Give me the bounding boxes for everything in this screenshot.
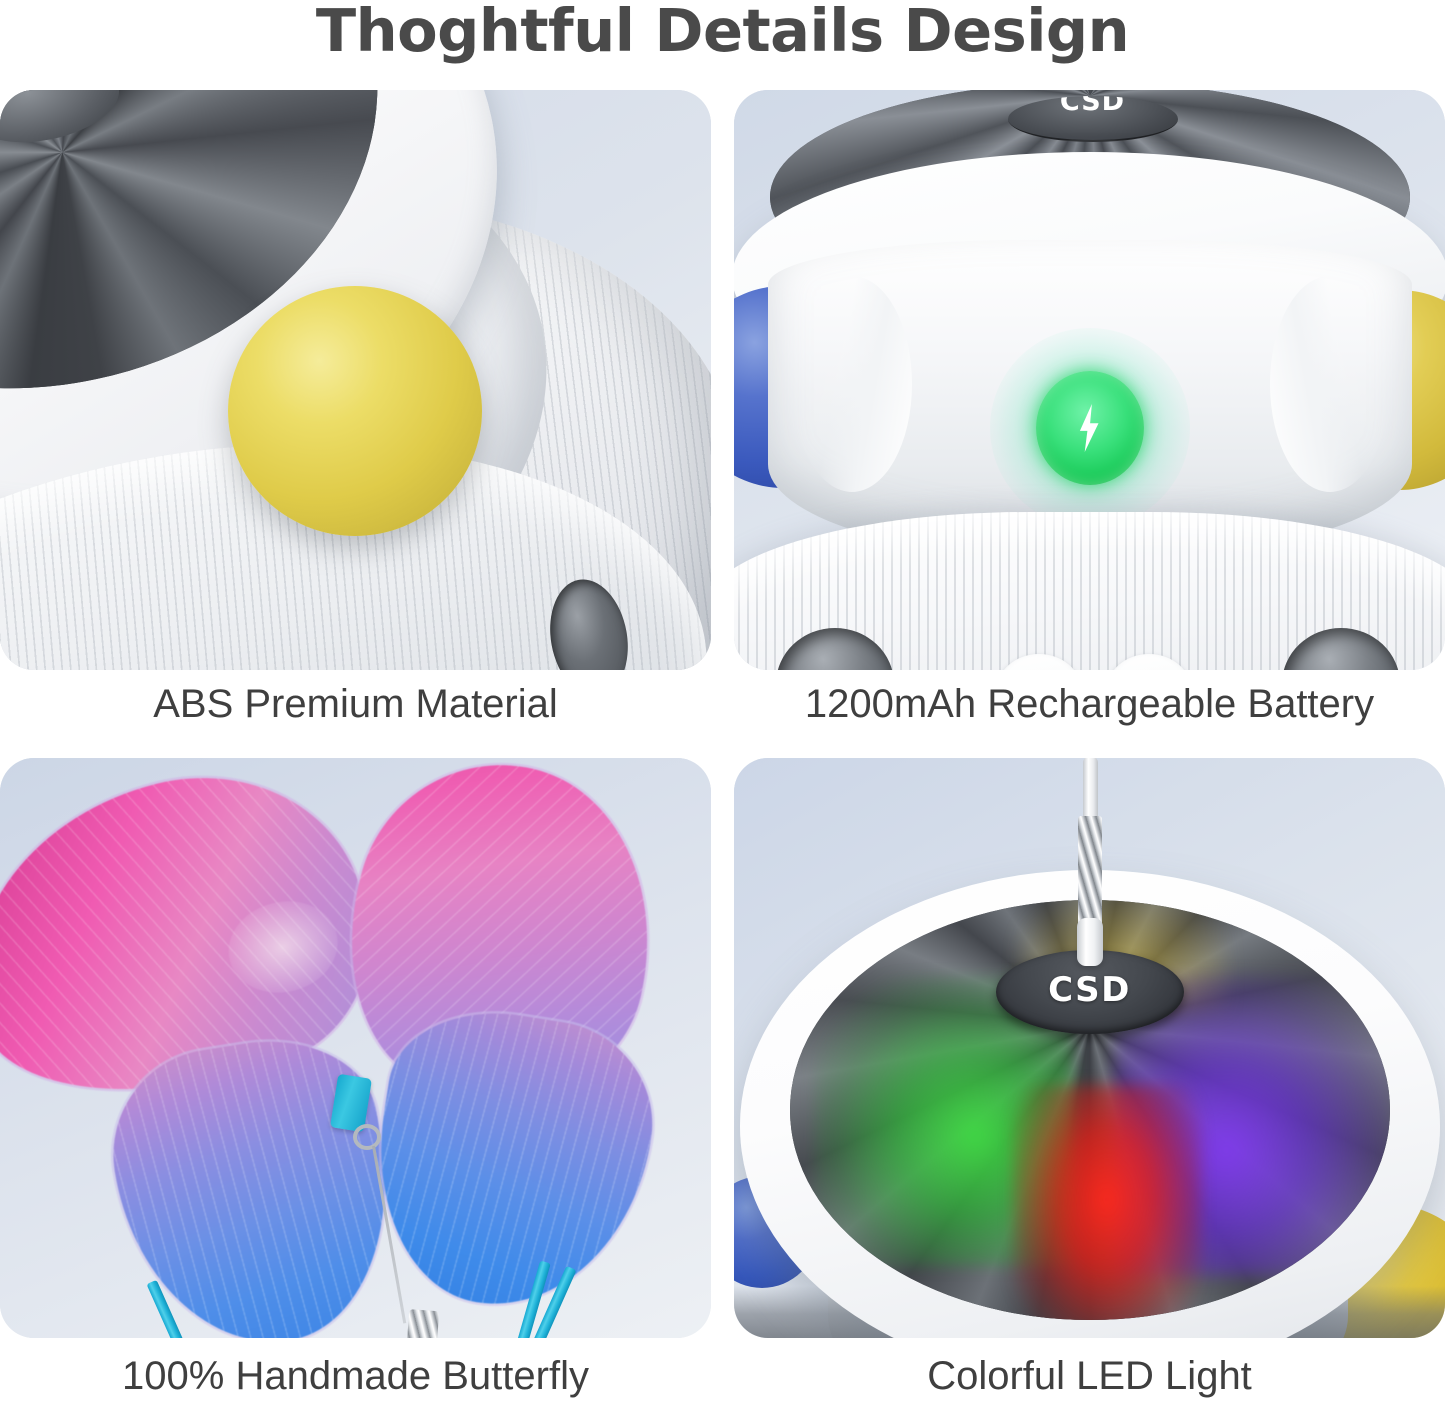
brand-label: CSD	[1048, 970, 1131, 1010]
caption-handmade-butterfly: 100% Handmade Butterfly	[0, 1352, 711, 1400]
ball-socket-left	[792, 276, 912, 492]
wand-rod	[1083, 758, 1098, 822]
lightning-bolt-icon	[1075, 404, 1105, 452]
caption-rechargeable-battery: 1200mAh Rechargeable Battery	[734, 680, 1445, 728]
led-red	[1012, 1085, 1202, 1320]
charging-indicator	[1036, 371, 1144, 485]
brand-cap: CSD	[1008, 96, 1178, 142]
caption-abs-material: ABS Premium Material	[0, 680, 711, 728]
ball-socket-right	[1270, 276, 1390, 492]
metal-ring	[353, 1124, 381, 1150]
caption-colorful-led-light: Colorful LED Light	[734, 1352, 1445, 1400]
panel-rechargeable-battery: CSD	[734, 90, 1445, 670]
brand-label: CSD	[1008, 96, 1178, 117]
wand-tip	[1077, 918, 1103, 966]
panel-abs-material	[0, 90, 711, 670]
panel-colorful-led-light: CSD	[734, 758, 1445, 1338]
panel-handmade-butterfly	[0, 758, 711, 1338]
page-title: Thoghtful Details Design	[0, 0, 1445, 66]
infographic-page: Thoghtful Details Design ABS Premium Mat…	[0, 0, 1445, 1408]
coil-spring	[1078, 816, 1102, 934]
ball-yellow	[228, 286, 482, 536]
